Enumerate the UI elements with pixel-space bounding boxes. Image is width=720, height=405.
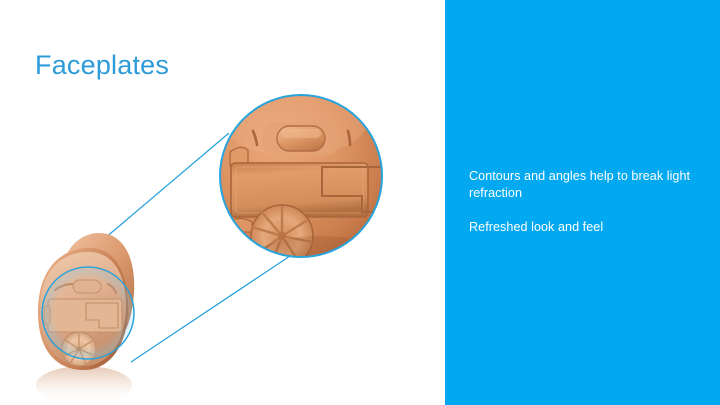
right-blue-panel: Contours and angles help to break light … (445, 0, 720, 405)
panel-text-block: Contours and angles help to break light … (469, 168, 697, 236)
lower-tab-big (232, 218, 252, 232)
device-reflection (36, 366, 132, 404)
panel-paragraph-1: Contours and angles help to break light … (469, 168, 697, 201)
page-title: Faceplates (35, 50, 169, 81)
slide-root: Faceplates Contours and angles help to b… (0, 0, 720, 405)
hearing-aid-small (36, 233, 134, 404)
magnified-callout (220, 88, 404, 288)
battery-door-big (231, 163, 368, 217)
panel-paragraph-2: Refreshed look and feel (469, 219, 697, 236)
magnified-faceplate (220, 88, 404, 288)
